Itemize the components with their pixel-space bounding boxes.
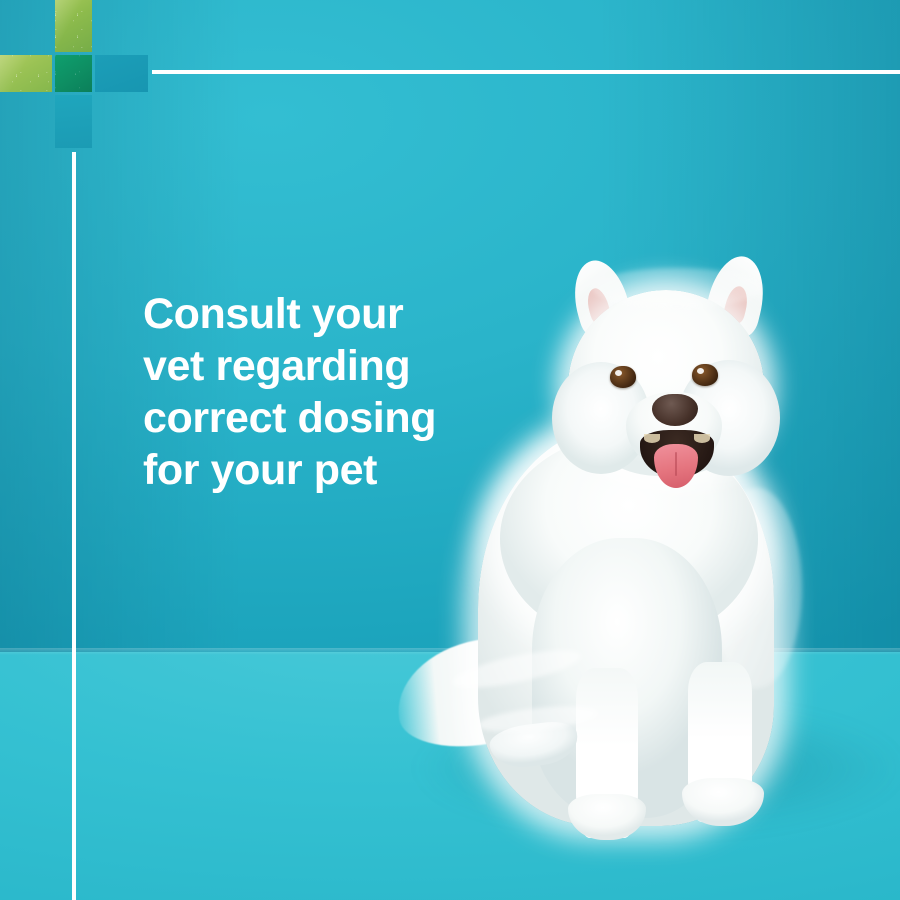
dog-right-eye — [692, 364, 718, 386]
headline-line-4: for your pet — [143, 444, 503, 496]
fur-wisp — [592, 268, 762, 308]
dog-left-eye — [610, 366, 636, 388]
teal-tile-bottom-icon — [55, 95, 92, 148]
headline-line-2: vet regarding — [143, 340, 503, 392]
promo-card: Consult your vet regarding correct dosin… — [0, 0, 900, 900]
dog-front-left-paw — [568, 794, 646, 840]
teal-tile-right-icon — [95, 55, 148, 92]
leaf-tile-center-icon — [55, 55, 92, 92]
header-rule-horizontal — [152, 70, 900, 74]
dog-left-eye-highlight — [615, 370, 622, 376]
dog-right-eye-highlight — [697, 368, 704, 374]
header-rule-vertical — [72, 152, 76, 900]
dog-tongue-crease — [675, 452, 677, 476]
dog-teeth-right — [694, 434, 710, 443]
leaf-tile-top-icon — [55, 0, 92, 52]
headline-line-3: correct dosing — [143, 392, 503, 444]
page-title: Consult your vet regarding correct dosin… — [143, 288, 503, 496]
pixel-cross-logo — [0, 0, 160, 160]
headline-line-1: Consult your — [143, 288, 503, 340]
leaf-tile-left-icon — [0, 55, 52, 92]
dog-teeth-left — [644, 434, 660, 443]
